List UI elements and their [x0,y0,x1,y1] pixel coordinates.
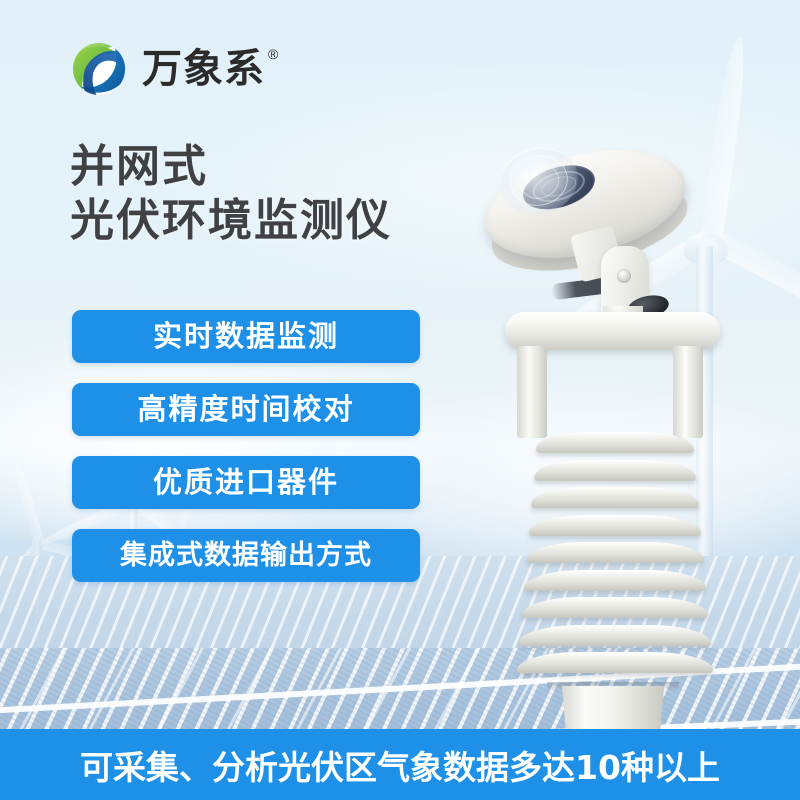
bracket-pivot-bolt [617,269,631,283]
product-image-weather-station [455,130,755,720]
feature-badge-label: 实时数据监测 [153,322,339,351]
feature-badge-integrated-output[interactable]: 集成式数据输出方式 [72,529,420,582]
bottom-banner-text: 可采集、分析光伏区气象数据多达10种以上 [80,741,720,789]
brand-logo[interactable]: 万象系 ® [68,38,278,100]
feature-badge-list: 实时数据监测 高精度时间校对 优质进口器件 集成式数据输出方式 [72,310,420,602]
louver-plate [529,515,701,536]
brand-name: 万象系 [142,49,265,89]
pyranometer-sensor [470,113,711,316]
swirl-globe-logo-icon [68,38,130,100]
louver-plate [527,542,704,563]
radiation-shield-louvers [495,430,735,688]
louver-plate [534,460,697,481]
louver-plate [536,432,694,453]
feature-badge-label: 高精度时间校对 [137,395,354,424]
louver-plate [531,487,699,508]
louver-plate [522,597,709,618]
feature-badge-realtime-monitoring[interactable]: 实时数据监测 [72,310,420,363]
registered-trademark-icon: ® [268,47,278,61]
headline-line-1: 并网式 [70,141,208,192]
support-pillar-right [673,346,703,438]
top-crossbar [505,312,720,350]
support-pillar-left [517,346,547,438]
feature-badge-imported-components[interactable]: 优质进口器件 [72,456,420,509]
headline-line-2: 光伏环境监测仪 [70,194,392,248]
louver-plate [517,652,713,673]
louver-plate [519,625,710,646]
feature-badge-time-calibration[interactable]: 高精度时间校对 [72,383,420,436]
promo-banner: 万象系 ® 并网式 光伏环境监测仪 实时数据监测 高精度时间校对 优质进口器件 … [0,0,800,800]
feature-badge-label: 集成式数据输出方式 [120,542,372,569]
page-title: 并网式 光伏环境监测仪 [70,140,392,247]
feature-badge-label: 优质进口器件 [153,468,339,497]
louver-plate [524,570,706,591]
bottom-banner: 可采集、分析光伏区气象数据多达10种以上 [0,729,800,800]
